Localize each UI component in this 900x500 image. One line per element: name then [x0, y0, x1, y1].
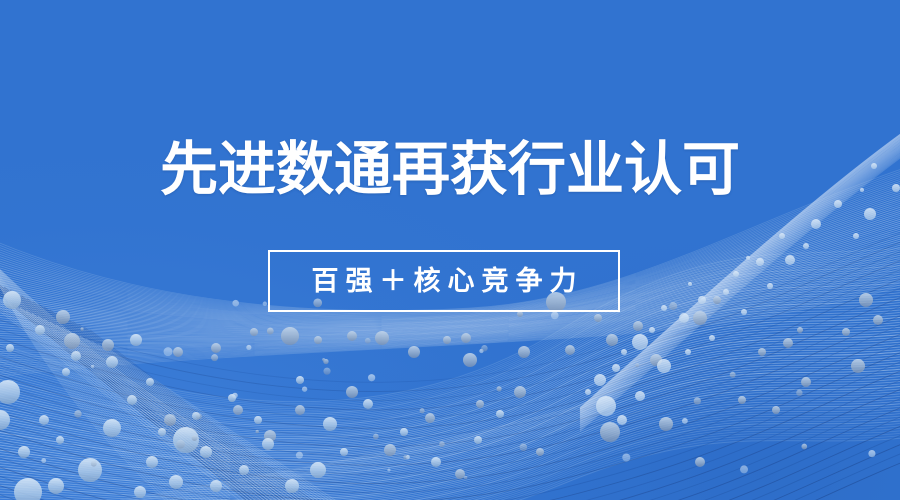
- subtitle-label: 百强＋核心竞争力: [305, 268, 584, 295]
- page-title: 先进数通再获行业认可: [0, 135, 900, 205]
- banner-canvas: 先进数通再获行业认可 百强＋核心竞争力: [0, 0, 900, 500]
- subtitle-badge: 百强＋核心竞争力: [268, 250, 620, 312]
